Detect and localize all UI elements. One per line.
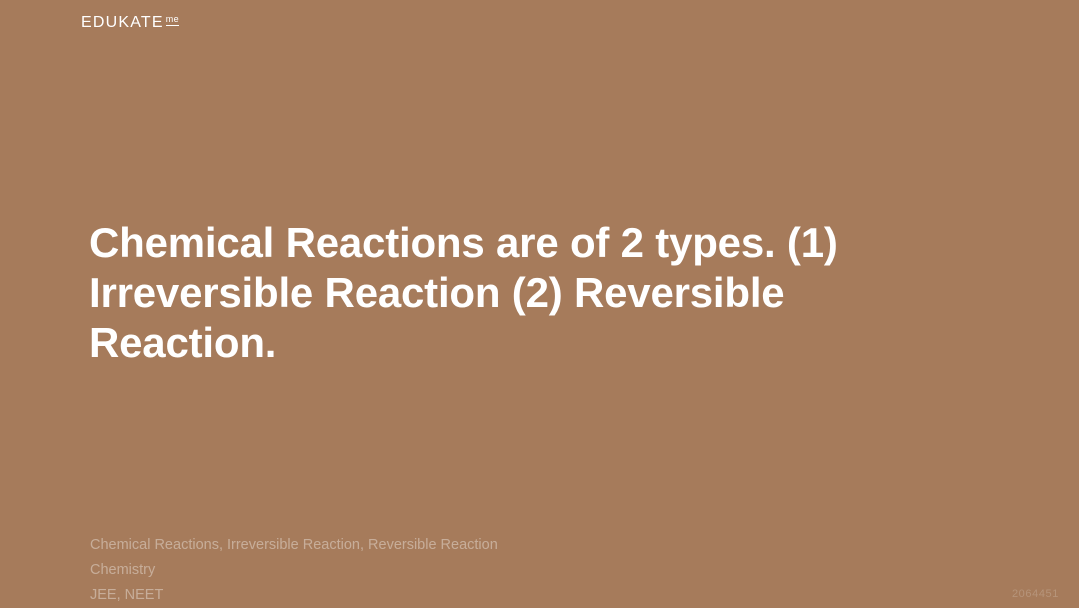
- brand-name: EDUKATE: [81, 15, 164, 31]
- slide-canvas: EDUKATE me Chemical Reactions are of 2 t…: [0, 0, 1079, 607]
- slide-headline: Chemical Reactions are of 2 types. (1) I…: [89, 218, 909, 368]
- metadata-tags: Chemical Reactions, Irreversible Reactio…: [90, 533, 498, 558]
- metadata-subject: Chemistry: [90, 558, 498, 583]
- metadata-exams: JEE, NEET: [90, 583, 498, 608]
- slide-metadata: Chemical Reactions, Irreversible Reactio…: [90, 533, 498, 608]
- reference-id: 2064451: [1012, 589, 1059, 600]
- brand-logo[interactable]: EDUKATE me: [81, 15, 179, 31]
- brand-suffix: me: [166, 15, 179, 26]
